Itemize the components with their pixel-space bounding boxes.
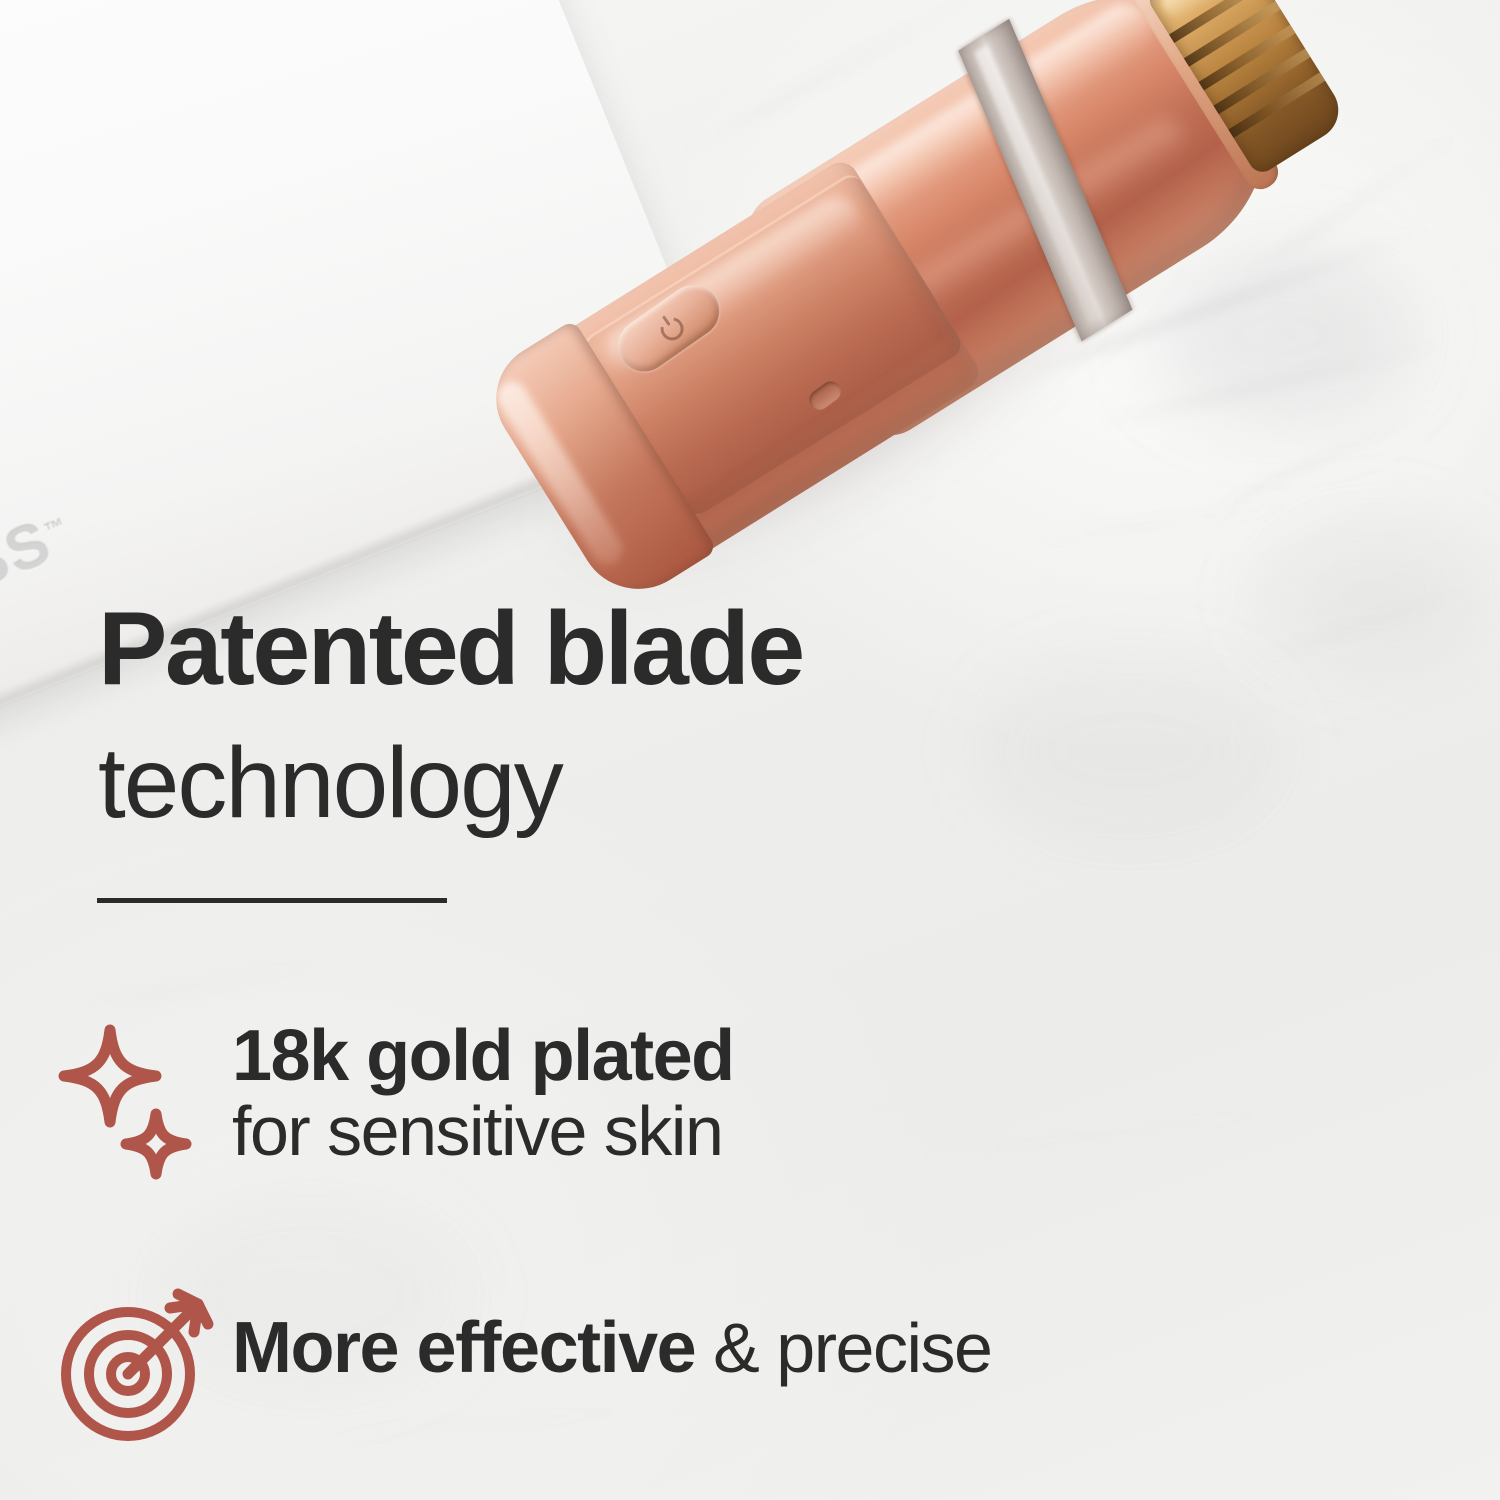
- feature-text: 18k gold plated for sensitive skin: [232, 1018, 734, 1169]
- feature-title: More effective: [232, 1308, 695, 1388]
- trimmer-body: [474, 0, 1332, 618]
- product-image: [470, 60, 1390, 560]
- sparkle-icon: [52, 1018, 222, 1213]
- feature-subtitle: & precise: [713, 1309, 991, 1387]
- feature-line: More effective& precise: [232, 1310, 991, 1386]
- feature-title: 18k gold plated: [232, 1018, 734, 1094]
- headline-line-1: Patented blade: [98, 597, 803, 701]
- divider-rule: [97, 898, 447, 903]
- feature-subtitle: for sensitive skin: [232, 1094, 734, 1168]
- blade-tooth: [1223, 67, 1333, 141]
- target-icon: [52, 1282, 222, 1457]
- power-icon: [656, 313, 688, 345]
- marble-blotch: [980, 660, 1280, 840]
- headline-line-2: technology: [98, 733, 562, 833]
- product-feature-card: SS™: [0, 0, 1500, 1500]
- feature-text: More effective& precise: [232, 1310, 991, 1386]
